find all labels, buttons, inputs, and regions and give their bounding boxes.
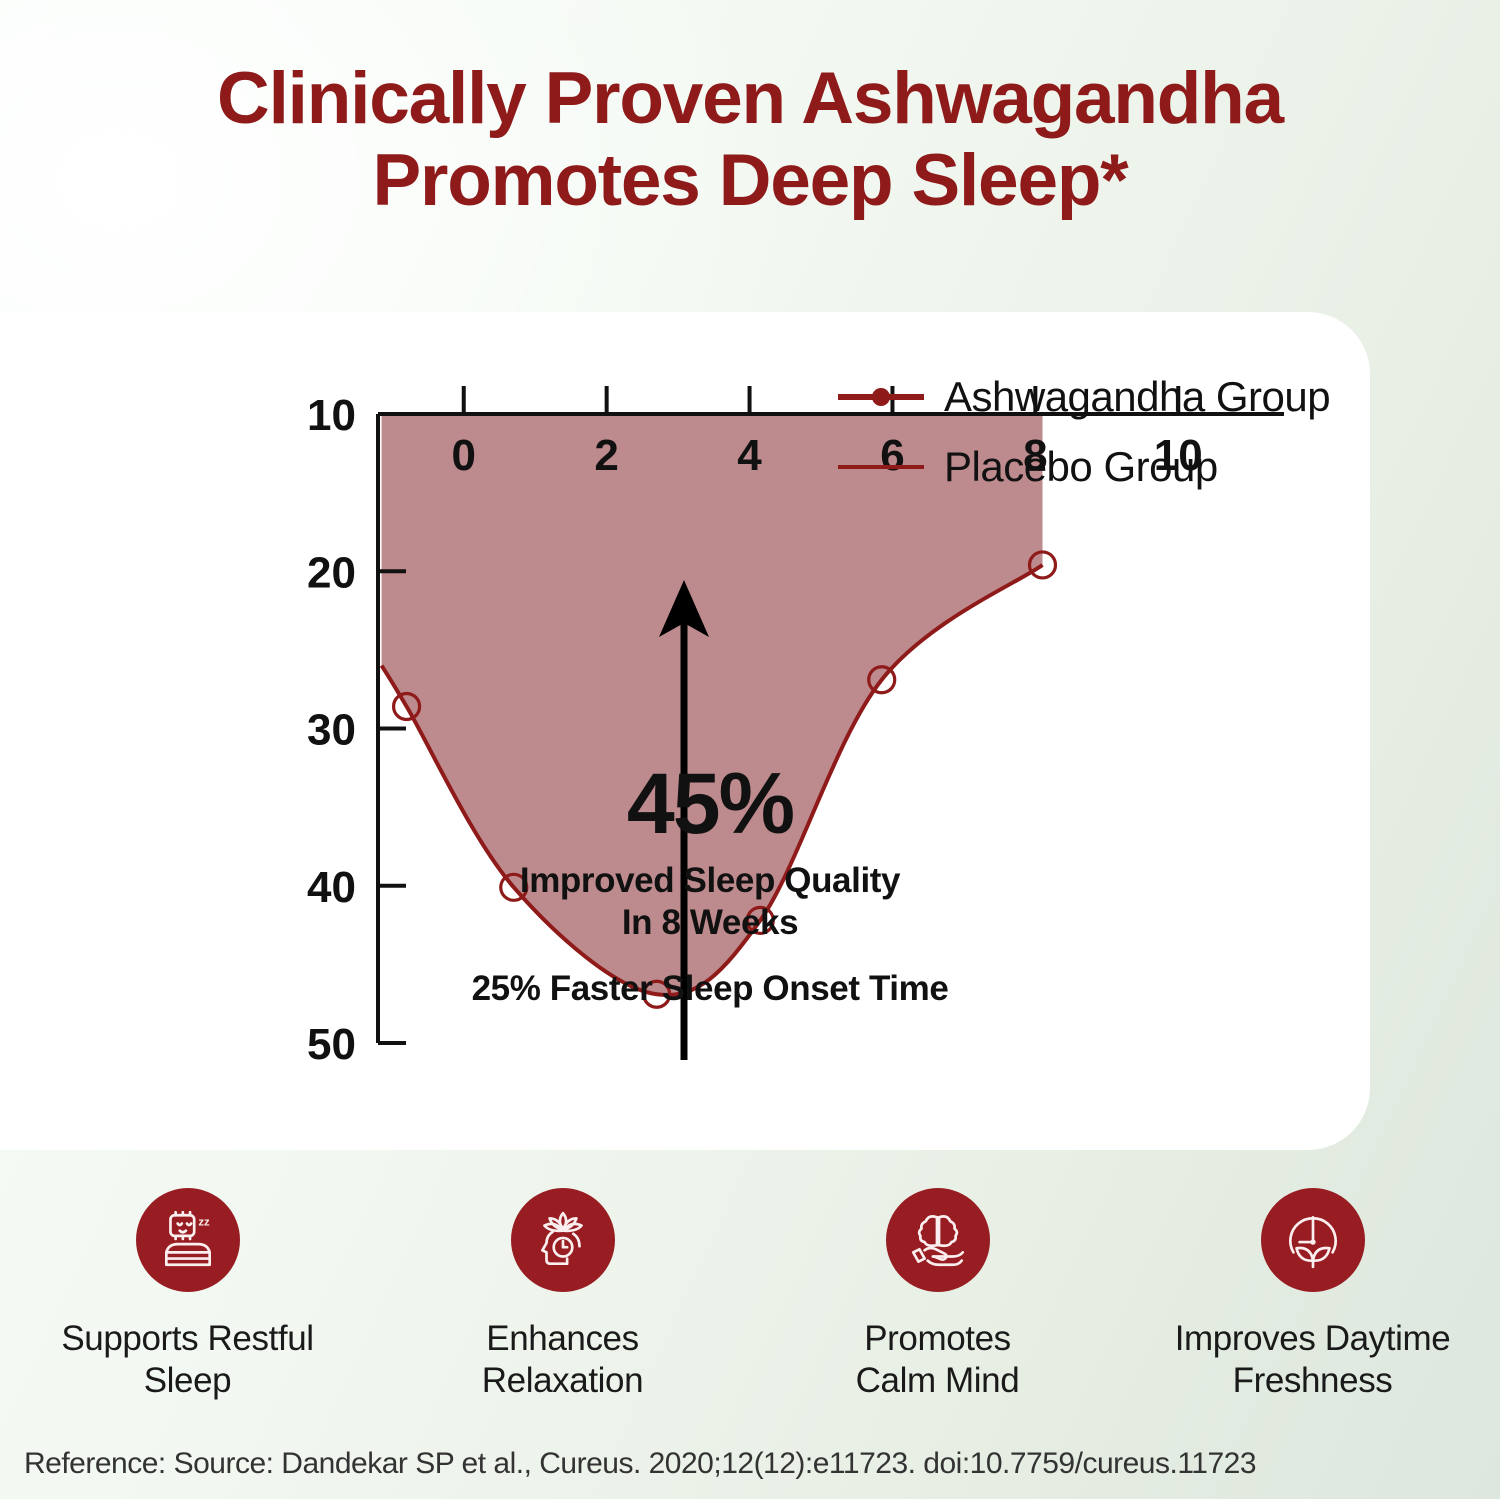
hand-holding-brain-icon [886, 1188, 990, 1292]
tick-label: 4 [737, 431, 762, 480]
tick-label: 50 [307, 1020, 356, 1069]
benefit-promotes-calm-mind: Promotes Calm Mind [750, 1188, 1125, 1402]
benefit-label-line-2: Freshness [1175, 1360, 1451, 1402]
tick-label: 20 [307, 548, 356, 597]
benefit-improves-daytime-freshness: Improves Daytime Freshness [1125, 1188, 1500, 1402]
benefit-label-line-1: Enhances [482, 1318, 643, 1360]
legend-label-ashwagandha: Ashwagandha Group [944, 373, 1330, 421]
annotation-headline: 45% [420, 762, 1000, 846]
benefit-label-line-2: Sleep [61, 1360, 313, 1402]
benefit-label-line-2: Calm Mind [856, 1360, 1020, 1402]
benefit-label: Enhances Relaxation [482, 1318, 643, 1402]
tick-label: 40 [307, 863, 356, 912]
reference-text: Reference: Source: Dandekar SP et al., C… [24, 1447, 1256, 1481]
clock-with-leaves-icon [1261, 1188, 1365, 1292]
benefits-row: zz Supports Restful Sleep [0, 1188, 1500, 1402]
legend-label-placebo: Placebo Group [944, 443, 1218, 491]
title-line-2: Promotes Deep Sleep* [0, 140, 1500, 222]
annotation-subtext-line-2: In 8 Weeks [420, 902, 1000, 943]
benefit-label: Promotes Calm Mind [856, 1318, 1020, 1402]
legend-item-placebo: Placebo Group [836, 432, 1376, 502]
head-with-lotus-and-clock-icon [511, 1188, 615, 1292]
benefit-supports-restful-sleep: zz Supports Restful Sleep [0, 1188, 375, 1402]
benefit-label: Improves Daytime Freshness [1175, 1318, 1451, 1402]
tick-label: 10 [307, 391, 356, 440]
sleeping-person-in-bed-icon: zz [136, 1188, 240, 1292]
benefit-label-line-1: Supports Restful [61, 1318, 313, 1360]
benefit-enhances-relaxation: Enhances Relaxation [375, 1188, 750, 1402]
annotation-subtext: Improved Sleep Quality In 8 Weeks [420, 860, 1000, 943]
infographic-root: Clinically Proven Ashwagandha Promotes D… [0, 0, 1500, 1499]
legend-item-ashwagandha: Ashwagandha Group [836, 362, 1376, 432]
benefit-label-line-1: Promotes [856, 1318, 1020, 1360]
chart-annotation: 45% Improved Sleep Quality In 8 Weeks 25… [420, 762, 1000, 1009]
tick-label: 2 [594, 431, 618, 480]
benefit-label: Supports Restful Sleep [61, 1318, 313, 1402]
tick-label: 0 [451, 431, 475, 480]
title-line-1: Clinically Proven Ashwagandha [0, 58, 1500, 140]
benefit-label-line-1: Improves Daytime [1175, 1318, 1451, 1360]
legend-swatch-line-with-dot-icon [836, 386, 926, 408]
svg-text:zz: zz [198, 1217, 210, 1229]
tick-label: 30 [307, 706, 356, 755]
annotation-subtext-line-1: Improved Sleep Quality [420, 860, 1000, 901]
page-title: Clinically Proven Ashwagandha Promotes D… [0, 58, 1500, 223]
legend-swatch-line-icon [836, 456, 926, 478]
benefit-label-line-2: Relaxation [482, 1360, 643, 1402]
chart-legend: Ashwagandha Group Placebo Group [836, 362, 1376, 502]
annotation-onset-text: 25% Faster Sleep Onset Time [420, 969, 1000, 1009]
